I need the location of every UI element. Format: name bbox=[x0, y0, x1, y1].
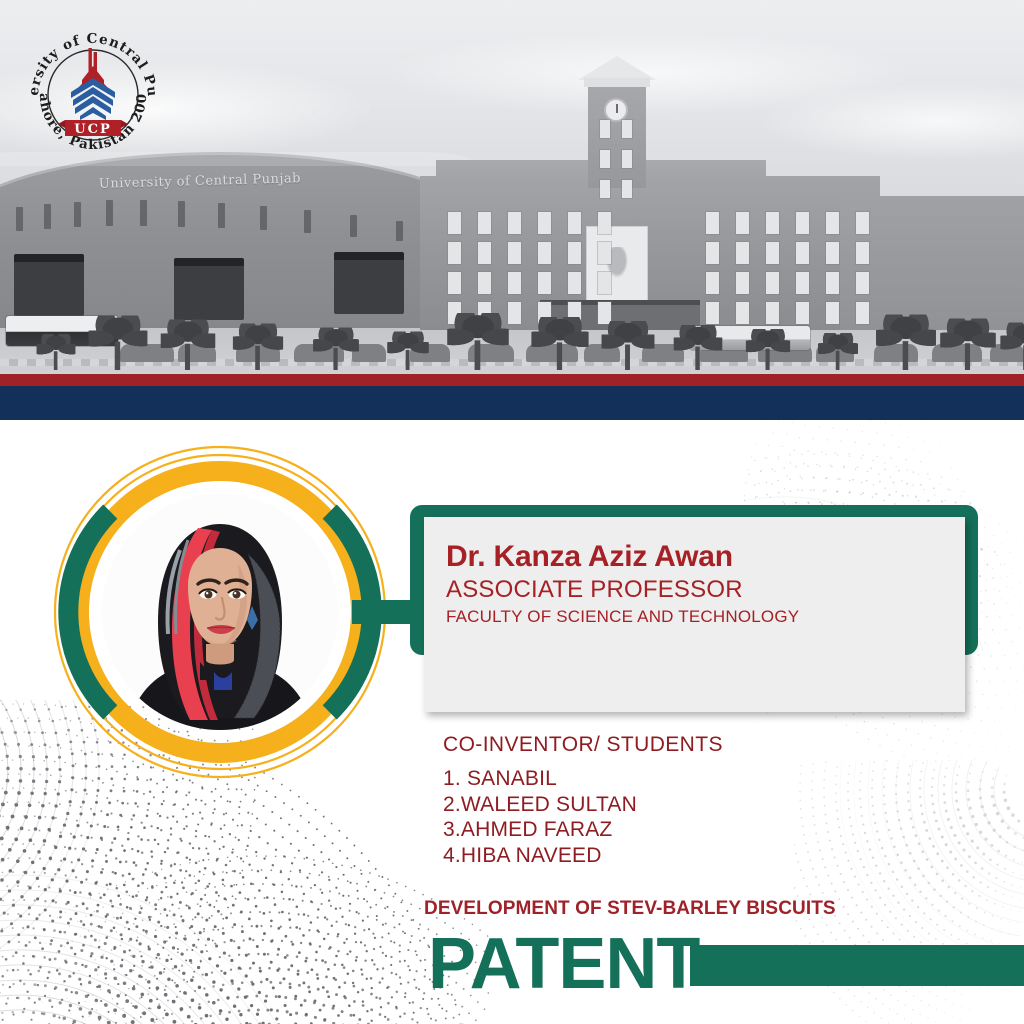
accent-stripe-red bbox=[0, 374, 1024, 386]
co-inventors-section: CO-INVENTOR/ STUDENTS 1. SANABIL2.WALEED… bbox=[443, 733, 913, 868]
professor-faculty: FACULTY OF SCIENCE AND TECHNOLOGY bbox=[446, 606, 966, 627]
palm-tree-row bbox=[0, 278, 1024, 370]
co-inventor-item: 2.WALEED SULTAN bbox=[443, 792, 913, 818]
co-inventors-list: 1. SANABIL2.WALEED SULTAN3.AHMED FARAZ4.… bbox=[443, 766, 913, 868]
co-inventor-item: 4.HIBA NAVEED bbox=[443, 843, 913, 869]
portrait-frame bbox=[48, 440, 392, 792]
facade-slot-windows bbox=[0, 200, 452, 230]
building-signage: University of Central Punjab bbox=[50, 170, 350, 193]
project-title: DEVELOPMENT OF STEV-BARLEY BISCUITS bbox=[424, 898, 984, 920]
svg-text:UCP: UCP bbox=[74, 122, 111, 137]
co-inventor-item: 3.AHMED FARAZ bbox=[443, 817, 913, 843]
co-inventor-item: 1. SANABIL bbox=[443, 766, 913, 792]
poster-canvas: University of Central Punjab bbox=[0, 0, 1024, 1024]
tower-cornice bbox=[584, 78, 650, 87]
patent-accent-bar bbox=[690, 945, 1024, 986]
accent-stripe-navy bbox=[0, 386, 1024, 420]
avatar bbox=[102, 494, 338, 730]
patent-label: PATENT bbox=[428, 928, 699, 1000]
co-inventors-heading: CO-INVENTOR/ STUDENTS bbox=[443, 733, 913, 757]
name-card-text: Dr. Kanza Aziz Awan ASSOCIATE PROFESSOR … bbox=[446, 540, 966, 628]
professor-designation: ASSOCIATE PROFESSOR bbox=[446, 576, 966, 605]
professor-name: Dr. Kanza Aziz Awan bbox=[446, 540, 966, 574]
clock-tower bbox=[588, 76, 646, 188]
clock-face-icon bbox=[604, 98, 628, 122]
ucp-crest-icon: University of Central Punjab Lahore, Pak… bbox=[18, 20, 168, 170]
